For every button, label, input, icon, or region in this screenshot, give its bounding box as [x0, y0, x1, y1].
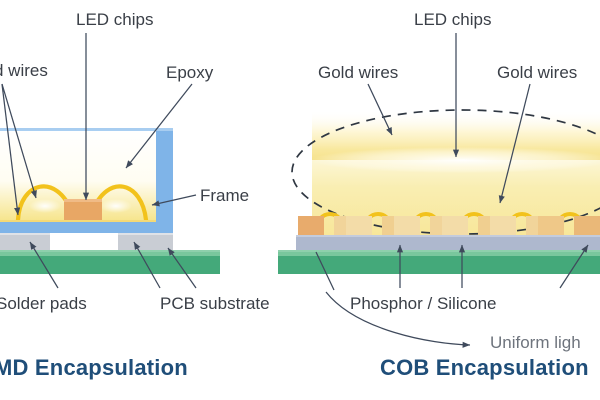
label-frame: Frame — [200, 186, 249, 205]
smd-cavity-floor — [0, 220, 156, 222]
label-solder-pads: Solder pads — [0, 294, 87, 313]
label-gold-wires-smd: d wires — [0, 61, 48, 80]
cob-metal-core-layer — [296, 235, 600, 250]
smd-solder-pads — [0, 233, 173, 250]
label-epoxy: Epoxy — [166, 63, 213, 82]
smd-package — [0, 128, 220, 274]
cob-package — [278, 110, 600, 274]
cob-pcb-substrate — [278, 250, 600, 274]
smd-panel-title: MD Encapsulation — [0, 355, 188, 381]
diagram-canvas: LED chips d wires Epoxy Frame Solder pad… — [0, 0, 600, 400]
label-phosphor-silicone: Phosphor / Silicone — [350, 294, 496, 313]
label-pcb-substrate: PCB substrate — [160, 294, 270, 313]
label-gold-wires-left: Gold wires — [318, 63, 398, 82]
label-gold-wires-right: Gold wires — [497, 63, 577, 82]
label-led-chips-cob: LED chips — [414, 10, 491, 29]
label-uniform-light: Uniform ligh — [490, 333, 581, 352]
label-led-chips-smd: LED chips — [76, 10, 153, 29]
cob-panel-title: COB Encapsulation — [380, 355, 589, 381]
cob-led-chip-array — [298, 214, 600, 235]
cob-chips — [298, 216, 600, 235]
smd-pcb-substrate — [0, 250, 220, 274]
smd-led-chip — [64, 199, 102, 221]
